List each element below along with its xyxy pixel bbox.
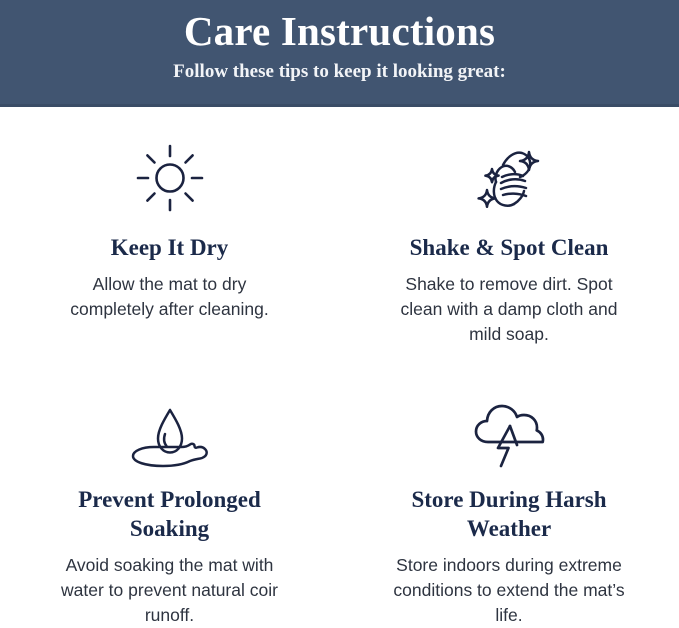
tip-body: Avoid soaking the mat with water to prev… (52, 553, 287, 628)
tip-body: Shake to remove dirt. Spot clean with a … (384, 272, 634, 347)
sun-icon (132, 135, 208, 221)
page-title: Care Instructions (184, 6, 495, 56)
storm-cloud-lightning-icon (466, 396, 552, 473)
care-instructions-infographic: Care Instructions Follow these tips to k… (0, 0, 679, 628)
tip-card-shake-spot-clean: Shake & Spot Clean Shake to remove dirt.… (339, 107, 679, 368)
tip-card-prevent-prolonged-soaking: Prevent Prolonged Soaking Avoid soaking … (0, 368, 339, 628)
tip-title: Keep It Dry (111, 233, 229, 262)
tip-body: Store indoors during extreme conditions … (387, 553, 632, 628)
tip-title: Store During Harsh Weather (394, 485, 624, 543)
tip-title: Shake & Spot Clean (410, 233, 609, 262)
tip-body: Allow the mat to dry completely after cl… (52, 272, 287, 322)
washing-hands-sparkle-icon (466, 135, 552, 221)
tips-grid: Keep It Dry Allow the mat to dry complet… (0, 107, 679, 628)
tip-card-keep-it-dry: Keep It Dry Allow the mat to dry complet… (0, 107, 339, 368)
tip-card-store-during-harsh-weather: Store During Harsh Weather Store indoors… (339, 368, 679, 628)
water-droplet-puddle-icon (123, 396, 217, 473)
header-banner: Care Instructions Follow these tips to k… (0, 0, 679, 107)
page-subtitle: Follow these tips to keep it looking gre… (173, 59, 506, 85)
tip-title: Prevent Prolonged Soaking (45, 485, 295, 543)
